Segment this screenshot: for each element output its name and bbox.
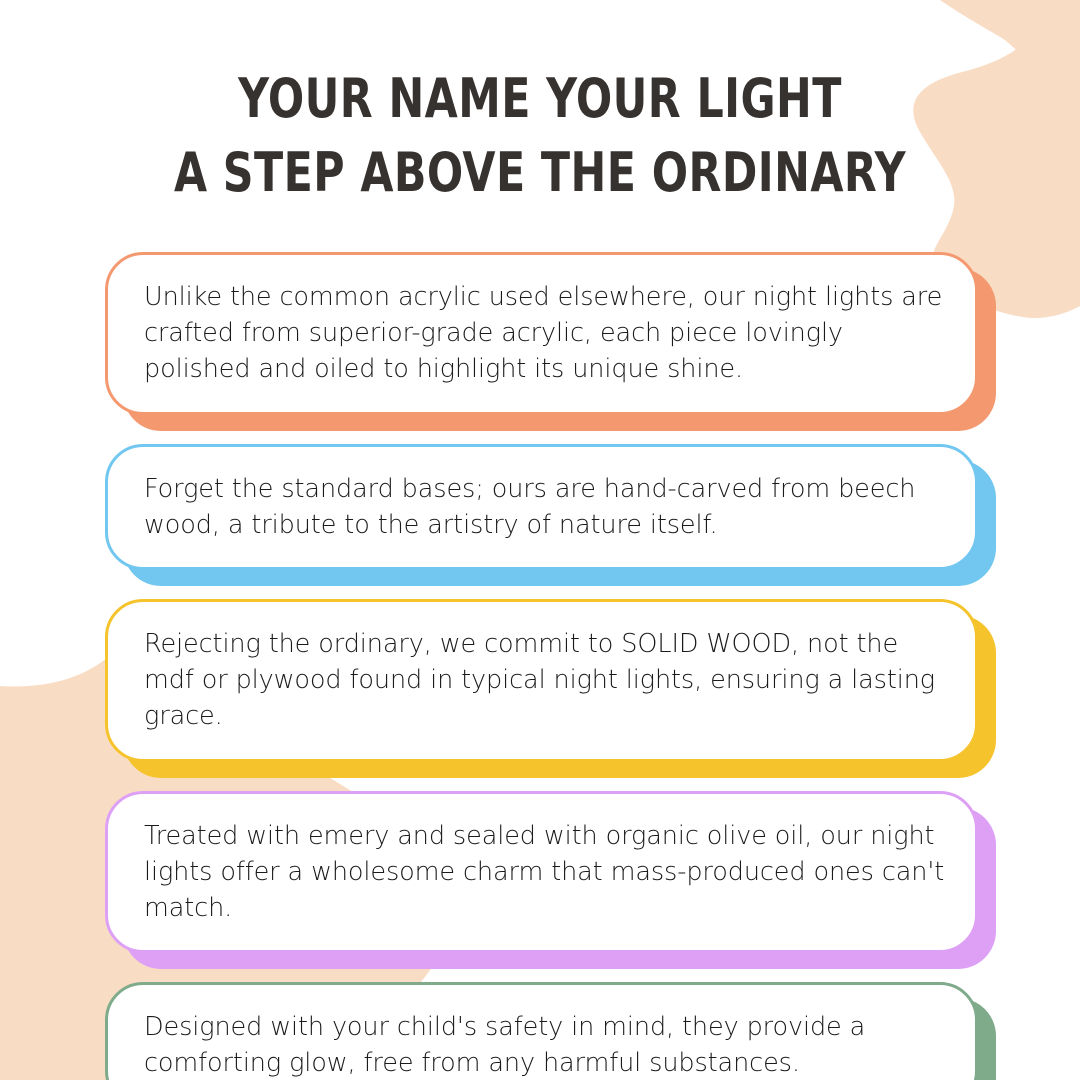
card-text: Designed with your child's safety in min… (144, 1009, 945, 1080)
page-title: YOUR NAME YOUR LIGHT A STEP ABOVE THE OR… (0, 72, 1080, 200)
card-text: Treated with emery and sealed with organ… (144, 818, 945, 927)
feature-card-list: Unlike the common acrylic used elsewhere… (105, 252, 997, 1080)
card-body: Treated with emery and sealed with organ… (105, 791, 978, 954)
card-text: Forget the standard bases; ours are hand… (144, 471, 945, 543)
poster-canvas: YOUR NAME YOUR LIGHT A STEP ABOVE THE OR… (0, 0, 1080, 1080)
card-body: Unlike the common acrylic used elsewhere… (105, 252, 978, 415)
card-body: Designed with your child's safety in min… (105, 982, 978, 1080)
card-text: Unlike the common acrylic used elsewhere… (144, 279, 945, 388)
feature-card-solid-wood: Rejecting the ordinary, we commit to SOL… (105, 599, 978, 762)
page-title-line-1: YOUR NAME YOUR LIGHT (65, 72, 1015, 126)
feature-card-child-safety: Designed with your child's safety in min… (105, 982, 978, 1080)
feature-card-beech-wood: Forget the standard bases; ours are hand… (105, 444, 978, 570)
card-body: Forget the standard bases; ours are hand… (105, 444, 978, 570)
page-title-line-2: A STEP ABOVE THE ORDINARY (65, 146, 1015, 200)
feature-card-olive-oil: Treated with emery and sealed with organ… (105, 791, 978, 954)
card-body: Rejecting the ordinary, we commit to SOL… (105, 599, 978, 762)
card-text: Rejecting the ordinary, we commit to SOL… (144, 626, 945, 735)
feature-card-acrylic: Unlike the common acrylic used elsewhere… (105, 252, 978, 415)
